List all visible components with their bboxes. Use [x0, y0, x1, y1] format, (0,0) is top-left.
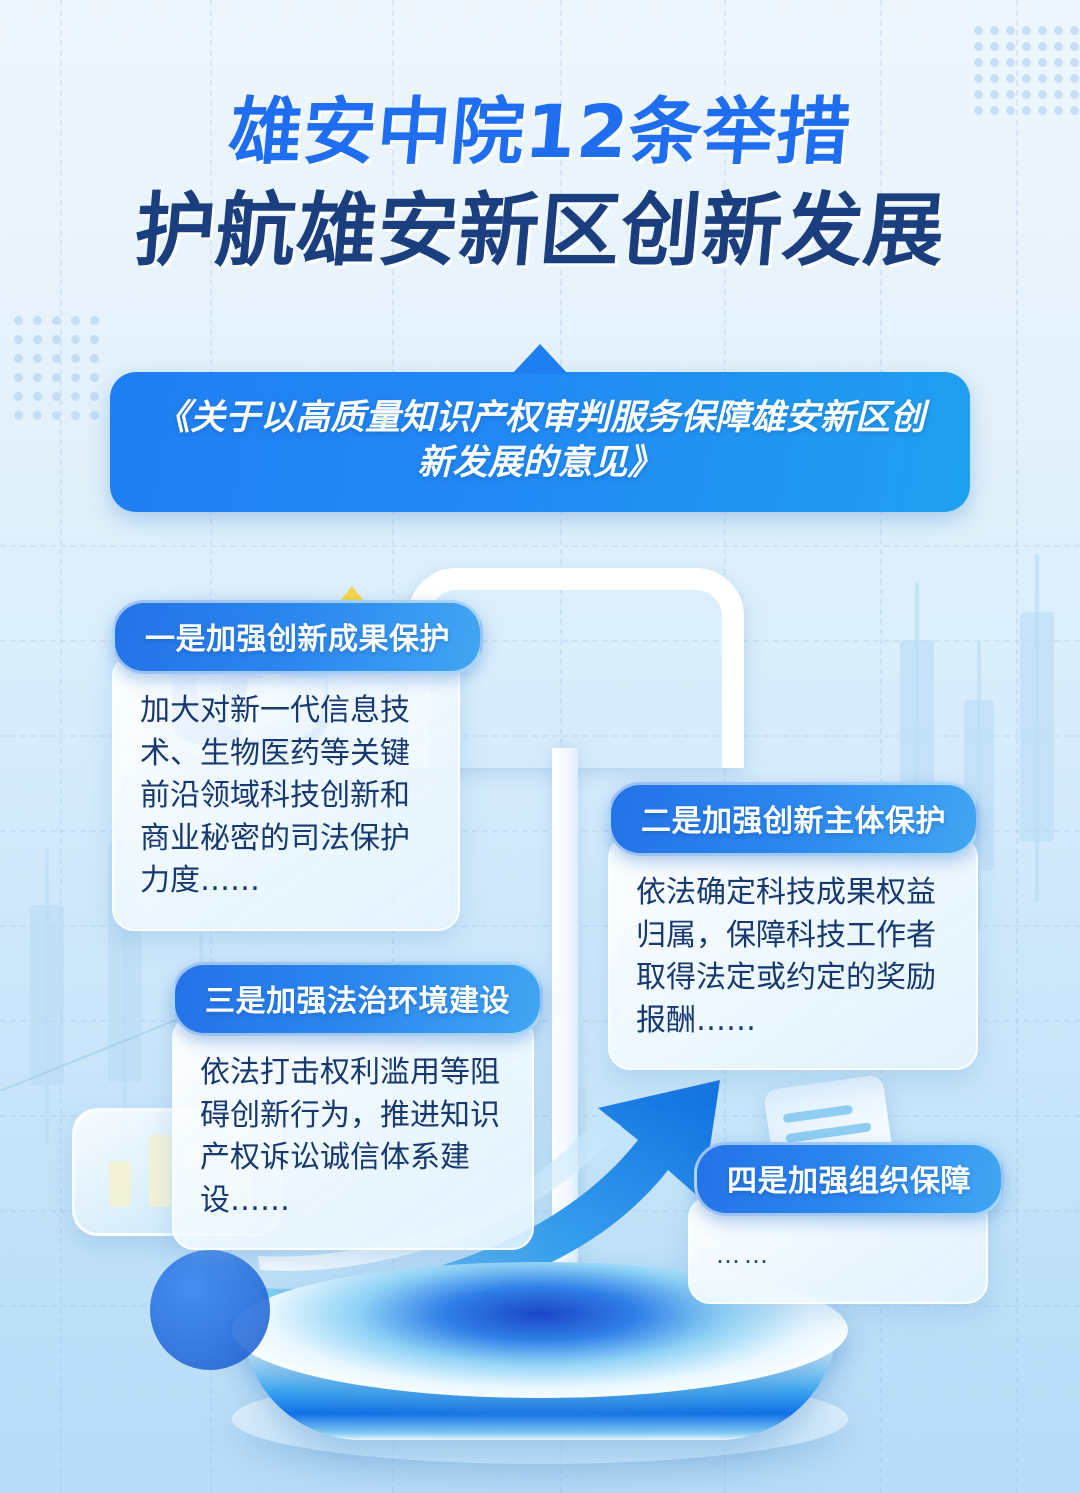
measure-text-2: 依法确定科技成果权益归属，保障科技工作者取得法定或约定的奖励报酬……: [636, 872, 950, 1042]
measure-heading-pill-4[interactable]: 四是加强组织保障: [694, 1142, 1004, 1216]
measure-heading-pill-2[interactable]: 二是加强创新主体保护: [608, 782, 979, 856]
measure-heading-pill-3[interactable]: 三是加强法治环境建设: [172, 962, 543, 1036]
measure-heading-label-4: 四是加强组织保障: [727, 1164, 971, 1199]
measure-heading-pill-1[interactable]: 一是加强创新成果保护: [112, 600, 483, 674]
measure-heading-label-2: 二是加强创新主体保护: [641, 804, 946, 839]
subtitle-banner: 《关于以高质量知识产权审判服务保障雄安新区创新发展的意见》: [110, 372, 970, 512]
measure-heading-label-3: 三是加强法治环境建设: [205, 984, 510, 1019]
banner-pointer-icon: [512, 344, 568, 374]
measure-text-4: ……: [716, 1238, 960, 1272]
subtitle-text: 《关于以高质量知识产权审判服务保障雄安新区创新发展的意见》: [154, 396, 926, 486]
measure-text-3: 依法打击权利滥用等阻碍创新行为，推进知识产权诉讼诚信体系建设……: [200, 1052, 506, 1222]
measure-body-1: 加大对新一代信息技术、生物医药等关键前沿领域科技创新和商业秘密的司法保护力度……: [112, 654, 460, 931]
poster-canvas: 雄安中院12条举措 护航雄安新区创新发展 《关于以高质量知识产权审判服务保障雄安…: [0, 0, 1080, 1493]
measure-card-4[interactable]: 四是加强组织保障 ……: [688, 1142, 988, 1304]
page-title: 雄安中院12条举措 护航雄安新区创新发展: [0, 96, 1080, 271]
measure-text-1: 加大对新一代信息技术、生物医药等关键前沿领域科技创新和商业秘密的司法保护力度……: [140, 690, 432, 903]
measure-heading-label-1: 一是加强创新成果保护: [145, 622, 450, 657]
measure-body-3: 依法打击权利滥用等阻碍创新行为，推进知识产权诉讼诚信体系建设……: [172, 1016, 534, 1250]
measure-card-1[interactable]: 一是加强创新成果保护 加大对新一代信息技术、生物医药等关键前沿领域科技创新和商业…: [112, 600, 460, 931]
decorative-sphere: [150, 1250, 270, 1370]
title-line-1: 雄安中院12条举措: [0, 96, 1080, 169]
measure-card-3[interactable]: 三是加强法治环境建设 依法打击权利滥用等阻碍创新行为，推进知识产权诉讼诚信体系建…: [172, 962, 534, 1250]
title-line-2: 护航雄安新区创新发展: [0, 191, 1080, 271]
measure-body-2: 依法确定科技成果权益归属，保障科技工作者取得法定或约定的奖励报酬……: [608, 836, 978, 1070]
measure-card-2[interactable]: 二是加强创新主体保护 依法确定科技成果权益归属，保障科技工作者取得法定或约定的奖…: [608, 782, 978, 1070]
